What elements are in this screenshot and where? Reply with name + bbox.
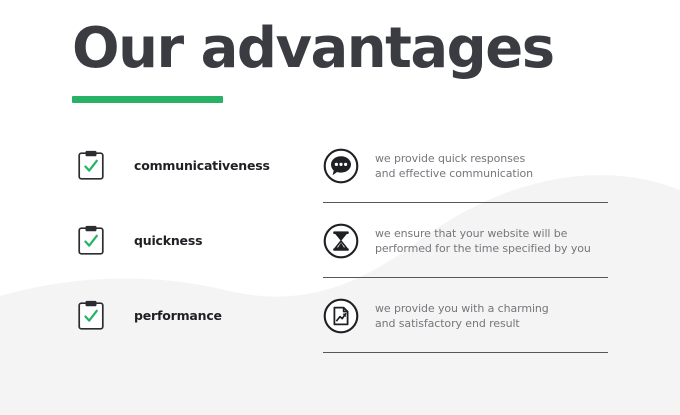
chat-bubble-icon: [323, 148, 359, 184]
advantage-item-quickness[interactable]: quickness: [78, 215, 202, 265]
advantage-label: communicativeness: [134, 158, 270, 173]
title-accent-rule: [72, 96, 223, 103]
detail-divider: [323, 352, 608, 353]
detail-line-1: we provide you with a charming: [375, 301, 549, 317]
detail-line-2: and effective communication: [375, 166, 533, 182]
detail-line-2: and satisfactory end result: [375, 316, 549, 332]
clipboard-check-icon: [78, 150, 104, 180]
advantage-detail-text: we provide quick responses and effective…: [375, 151, 533, 182]
advantage-label: performance: [134, 308, 222, 323]
clipboard-check-icon: [78, 225, 104, 255]
advantage-item-performance[interactable]: performance: [78, 290, 222, 340]
detail-divider: [323, 277, 608, 278]
hourglass-icon: [323, 223, 359, 259]
detail-line-2: performed for the time specified by you: [375, 241, 591, 257]
advantage-item-communicativeness[interactable]: communicativeness: [78, 140, 270, 190]
advantage-row: quickness we ensure that your website wi…: [0, 215, 680, 290]
clipboard-check-icon: [78, 300, 104, 330]
advantage-detail-text: we provide you with a charming and satis…: [375, 301, 549, 332]
advantages-list: communicativeness we provide quick respo…: [0, 140, 680, 365]
detail-line-1: we ensure that your website will be: [375, 226, 591, 242]
heading-block: Our advantages: [72, 18, 554, 103]
advantage-row: performance we provide you with a charmi…: [0, 290, 680, 365]
advantage-detail-communicativeness[interactable]: we provide quick responses and effective…: [323, 140, 623, 203]
slide-canvas: Our advantages communicativeness: [0, 0, 680, 415]
detail-divider: [323, 202, 608, 203]
detail-line-1: we provide quick responses: [375, 151, 533, 167]
advantage-row: communicativeness we provide quick respo…: [0, 140, 680, 215]
advantage-detail-text: we ensure that your website will be perf…: [375, 226, 591, 257]
advantage-detail-quickness[interactable]: we ensure that your website will be perf…: [323, 215, 623, 278]
advantage-detail-performance[interactable]: we provide you with a charming and satis…: [323, 290, 623, 353]
advantage-label: quickness: [134, 233, 202, 248]
page-title: Our advantages: [72, 18, 554, 80]
chart-document-icon: [323, 298, 359, 334]
